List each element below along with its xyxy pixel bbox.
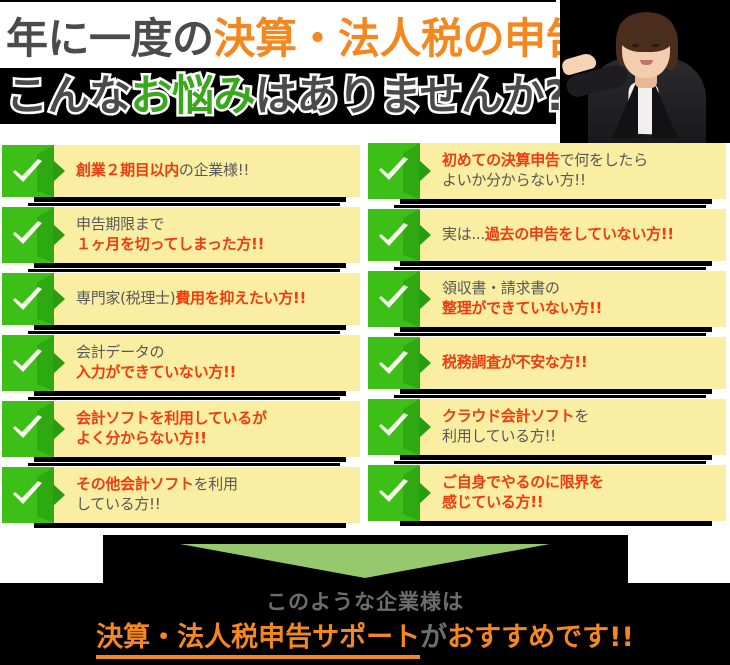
arrow-section [0, 535, 730, 583]
checklist-text-line: よく分からない方!! [76, 429, 352, 449]
checklist-card: 専門家(税理士)費用を抑えたい方!! [2, 273, 360, 325]
check-mark-icon [368, 465, 420, 521]
checklist-card: ご自身でやるのに限界を感じている方!! [368, 465, 726, 521]
emphasis-text: 創業２期目以内 [76, 161, 179, 179]
checklist-text-line: 初めての決算申告で何をしたら [442, 151, 718, 171]
checklist-item-text: 初めての決算申告で何をしたらよいか分からない方!! [420, 143, 726, 199]
card-top-rule [394, 205, 706, 208]
card-top-rule [28, 269, 340, 272]
checklist-text-line: 会計ソフトを利用しているが [76, 409, 352, 429]
card-top-rule [28, 397, 340, 400]
checklist-text-line: １ヶ月を切ってしまった方!! [76, 235, 352, 255]
check-mark-icon [368, 271, 420, 327]
checklist-item-text: ご自身でやるのに限界を感じている方!! [420, 465, 726, 521]
card-top-rule [394, 267, 706, 270]
checklist-text-line: 感じている方!! [442, 493, 718, 513]
checklist-item-text: 申告期限まで１ヶ月を切ってしまった方!! [54, 207, 360, 263]
checklist-card: その他会計ソフトを利用している方!! [2, 467, 360, 523]
checklist-item: 初めての決算申告で何をしたらよいか分からない方!! [368, 143, 726, 199]
emphasis-text: 費用を抑えたい方!! [175, 289, 306, 307]
check-mark-icon [368, 337, 420, 389]
checklist-card: 税務調査が不安な方!! [368, 337, 726, 389]
plain-text: 利用している方!! [442, 427, 556, 445]
plain-text: 申告期限まで [76, 215, 164, 233]
emphasis-text: １ヶ月を切ってしまった方!! [76, 235, 264, 253]
check-mark-icon [368, 399, 420, 455]
emphasis-text: 税務調査が不安な方!! [442, 353, 587, 371]
checklist-text-line: 税務調査が不安な方!! [442, 353, 718, 373]
checklist-text-line: その他会計ソフトを利用 [76, 475, 352, 495]
card-top-rule [28, 463, 340, 466]
plain-text: 領収書・請求書の [442, 279, 560, 297]
photo-eye-left [632, 44, 639, 47]
checklist-text-line: ご自身でやるのに限界を [442, 473, 718, 493]
plain-text: 実は... [442, 225, 485, 243]
emphasis-text: ご自身でやるのに限界を [442, 473, 604, 491]
headline-line2-emphasis: お悩み [131, 71, 256, 120]
checklist-text-line: 創業２期目以内の企業様!! [76, 161, 352, 181]
checklist-text-line: 会計データの [76, 343, 352, 363]
check-mark-icon [368, 143, 420, 199]
headline-line1-pre: 年に一度の [6, 14, 214, 63]
card-top-rule [28, 203, 340, 206]
check-mark-icon [2, 207, 54, 263]
check-mark-icon [2, 335, 54, 391]
check-mark-icon [2, 273, 54, 325]
plain-text: を [574, 407, 589, 425]
checklist-item: クラウド会計ソフトを利用している方!! [368, 399, 726, 455]
checklist-card: 会計データの入力ができていない方!! [2, 335, 360, 391]
checklist-item-text: クラウド会計ソフトを利用している方!! [420, 399, 726, 455]
checklist-text-line: している方!! [76, 495, 352, 515]
emphasis-text: その他会計ソフト [76, 475, 194, 493]
photo-eye-right [652, 44, 659, 47]
checklist-card: クラウド会計ソフトを利用している方!! [368, 399, 726, 455]
check-mark-icon [2, 467, 54, 523]
promo-banner: 年に一度の決算・法人税の申告で こんなお悩みはありませんか?? 創業２期目以内の… [0, 0, 730, 665]
headline-line1-emphasis: 決算・法人税の申告 [214, 14, 588, 63]
service-name: 決算・法人税申告サポート [96, 622, 420, 659]
checklist-text-line: 実は...過去の申告をしていない方!! [442, 225, 718, 245]
checklist-text-line: 申告期限まで [76, 215, 352, 235]
checklist-item-text: 実は...過去の申告をしていない方!! [420, 209, 726, 261]
emphasis-text: 整理ができていない方!! [442, 299, 602, 317]
conclusion-section: このような企業様は 決算・法人税申告サポートがおすすめです!! [0, 583, 730, 665]
emphasis-text: 過去の申告をしていない方!! [485, 225, 674, 243]
photo-hair-top [618, 12, 675, 52]
check-mark-icon [2, 145, 54, 197]
conclusion-recommend: おすすめです!! [447, 622, 634, 653]
headline-top-rule [0, 0, 556, 2]
checklist-item: 申告期限まで１ヶ月を切ってしまった方!! [2, 207, 360, 263]
plain-text: よいか分からない方!! [442, 171, 586, 189]
business-woman-photo [560, 0, 730, 143]
checklist-item: 専門家(税理士)費用を抑えたい方!! [2, 273, 360, 325]
headline-line2-post: はありませんか?? [255, 71, 592, 120]
checklist-item: 会計データの入力ができていない方!! [2, 335, 360, 391]
checklist-card: 初めての決算申告で何をしたらよいか分からない方!! [368, 143, 726, 199]
emphasis-text: 初めての決算申告 [442, 151, 560, 169]
check-mark-icon [2, 401, 54, 457]
plain-text: している方!! [76, 495, 160, 513]
checklist-card: 会計ソフトを利用しているがよく分からない方!! [2, 401, 360, 457]
checklist-item-text: その他会計ソフトを利用している方!! [54, 467, 360, 523]
emphasis-text: 入力ができていない方!! [76, 363, 236, 381]
plain-text: で何をしたら [560, 151, 648, 169]
checklist-item: 実は...過去の申告をしていない方!! [368, 209, 726, 261]
emphasis-text: よく分からない方!! [76, 429, 207, 447]
checklist-item-text: 税務調査が不安な方!! [420, 337, 726, 389]
checklist-item: 税務調査が不安な方!! [368, 337, 726, 389]
plain-text: を利用 [194, 475, 238, 493]
card-top-rule [28, 331, 340, 334]
checklist-text-line: クラウド会計ソフトを [442, 407, 718, 427]
checklist: 創業２期目以内の企業様!!申告期限まで１ヶ月を切ってしまった方!!専門家(税理士… [0, 143, 730, 535]
checklist-card: 申告期限まで１ヶ月を切ってしまった方!! [2, 207, 360, 263]
checklist-card: 実は...過去の申告をしていない方!! [368, 209, 726, 261]
card-top-rule [394, 461, 706, 464]
checklist-text-line: よいか分からない方!! [442, 171, 718, 191]
checklist-item-text: 専門家(税理士)費用を抑えたい方!! [54, 273, 360, 325]
conclusion-lead: このような企業様は [0, 586, 730, 616]
checklist-text-line: 専門家(税理士)費用を抑えたい方!! [76, 289, 352, 309]
plain-text: 専門家(税理士) [76, 289, 175, 307]
checklist-item-text: 創業２期目以内の企業様!! [54, 145, 360, 197]
checklist-item-text: 領収書・請求書の整理ができていない方!! [420, 271, 726, 327]
conclusion-particle: が [420, 622, 447, 653]
checklist-text-line: 領収書・請求書の [442, 279, 718, 299]
checklist-text-line: 入力ができていない方!! [76, 363, 352, 383]
conclusion-main: 決算・法人税申告サポートがおすすめです!! [0, 615, 730, 654]
headline-line2-pre: こんな [6, 71, 131, 120]
emphasis-text: 感じている方!! [442, 493, 543, 511]
checklist-column-left: 創業２期目以内の企業様!!申告期限まで１ヶ月を切ってしまった方!!専門家(税理士… [2, 145, 360, 533]
checklist-item: ご自身でやるのに限界を感じている方!! [368, 465, 726, 521]
card-top-rule [394, 395, 706, 398]
checklist-item-text: 会計ソフトを利用しているがよく分からない方!! [54, 401, 360, 457]
headline-line-2: こんなお悩みはありませんか?? [6, 62, 592, 123]
checklist-text-line: 利用している方!! [442, 427, 718, 447]
checklist-card: 創業２期目以内の企業様!! [2, 145, 360, 197]
checklist-item: 領収書・請求書の整理ができていない方!! [368, 271, 726, 327]
emphasis-text: 会計ソフトを利用しているが [76, 409, 267, 427]
checklist-text-line: 整理ができていない方!! [442, 299, 718, 319]
checklist-item: その他会計ソフトを利用している方!! [2, 467, 360, 523]
card-top-rule [394, 333, 706, 336]
plain-text: 会計データの [76, 343, 164, 361]
emphasis-text: クラウド会計ソフト [442, 407, 574, 425]
check-mark-icon [368, 209, 420, 261]
checklist-column-right: 初めての決算申告で何をしたらよいか分からない方!!実は...過去の申告をしていな… [368, 143, 726, 531]
checklist-item: 会計ソフトを利用しているがよく分からない方!! [2, 401, 360, 457]
plain-text: の企業様!! [179, 161, 249, 179]
checklist-item: 創業２期目以内の企業様!! [2, 145, 360, 197]
headline-line-1: 年に一度の決算・法人税の申告で [6, 5, 629, 66]
checklist-item-text: 会計データの入力ができていない方!! [54, 335, 360, 391]
checklist-card: 領収書・請求書の整理ができていない方!! [368, 271, 726, 327]
